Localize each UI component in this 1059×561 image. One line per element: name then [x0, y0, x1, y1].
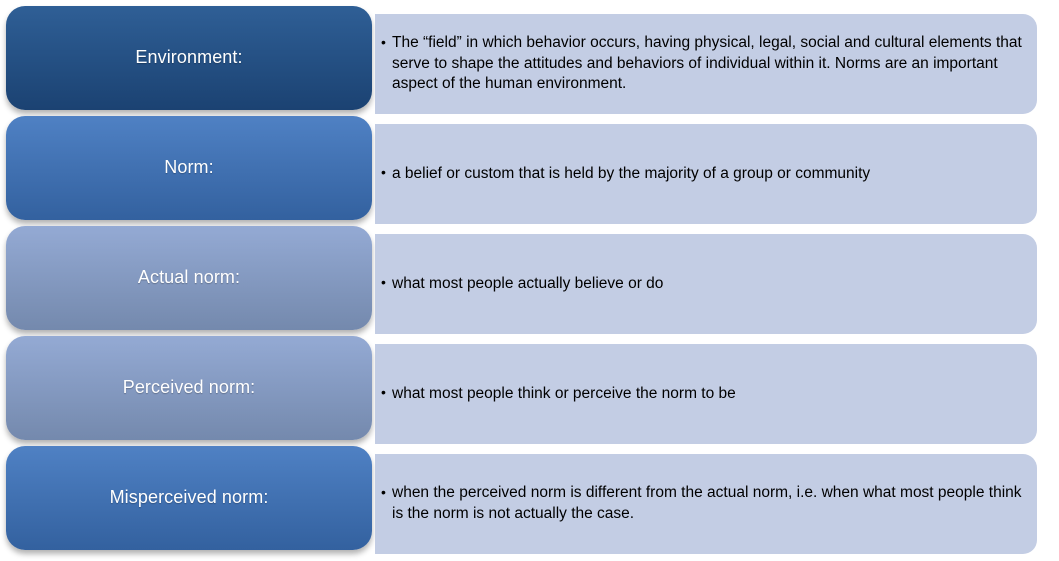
- definition-bullet: The “field” in which behavior occurs, ha…: [381, 33, 1023, 95]
- definition-bullet: what most people actually believe or do: [381, 274, 1023, 295]
- term-box-misperceived-norm: Misperceived norm:: [6, 446, 372, 550]
- definition-panel-perceived-norm: what most people think or perceive the n…: [375, 344, 1037, 444]
- definition-list: The “field” in which behavior occurs, ha…: [381, 33, 1023, 95]
- definition-row: Environment: The “field” in which behavi…: [0, 6, 1059, 110]
- definition-panel-norm: a belief or custom that is held by the m…: [375, 124, 1037, 224]
- term-box-actual-norm: Actual norm:: [6, 226, 372, 330]
- term-box-norm: Norm:: [6, 116, 372, 220]
- term-label: Misperceived norm:: [110, 487, 269, 509]
- definition-panel-actual-norm: what most people actually believe or do: [375, 234, 1037, 334]
- definition-diagram: Environment: The “field” in which behavi…: [0, 0, 1059, 561]
- term-box-environment: Environment:: [6, 6, 372, 110]
- definition-row: Actual norm: what most people actually b…: [0, 226, 1059, 330]
- definition-list: what most people think or perceive the n…: [381, 384, 1023, 405]
- definition-panel-misperceived-norm: when the perceived norm is different fro…: [375, 454, 1037, 554]
- definition-list: a belief or custom that is held by the m…: [381, 164, 1023, 185]
- definition-bullet: a belief or custom that is held by the m…: [381, 164, 1023, 185]
- definition-bullet: when the perceived norm is different fro…: [381, 483, 1023, 524]
- term-label: Norm:: [164, 157, 214, 179]
- definition-row: Perceived norm: what most people think o…: [0, 336, 1059, 440]
- term-label: Actual norm:: [138, 267, 240, 289]
- definition-row: Norm: a belief or custom that is held by…: [0, 116, 1059, 220]
- definition-list: when the perceived norm is different fro…: [381, 483, 1023, 524]
- definition-list: what most people actually believe or do: [381, 274, 1023, 295]
- definition-row: Misperceived norm: when the perceived no…: [0, 446, 1059, 550]
- term-label: Environment:: [135, 47, 242, 69]
- definition-panel-environment: The “field” in which behavior occurs, ha…: [375, 14, 1037, 114]
- term-box-perceived-norm: Perceived norm:: [6, 336, 372, 440]
- term-label: Perceived norm:: [123, 377, 256, 399]
- definition-bullet: what most people think or perceive the n…: [381, 384, 1023, 405]
